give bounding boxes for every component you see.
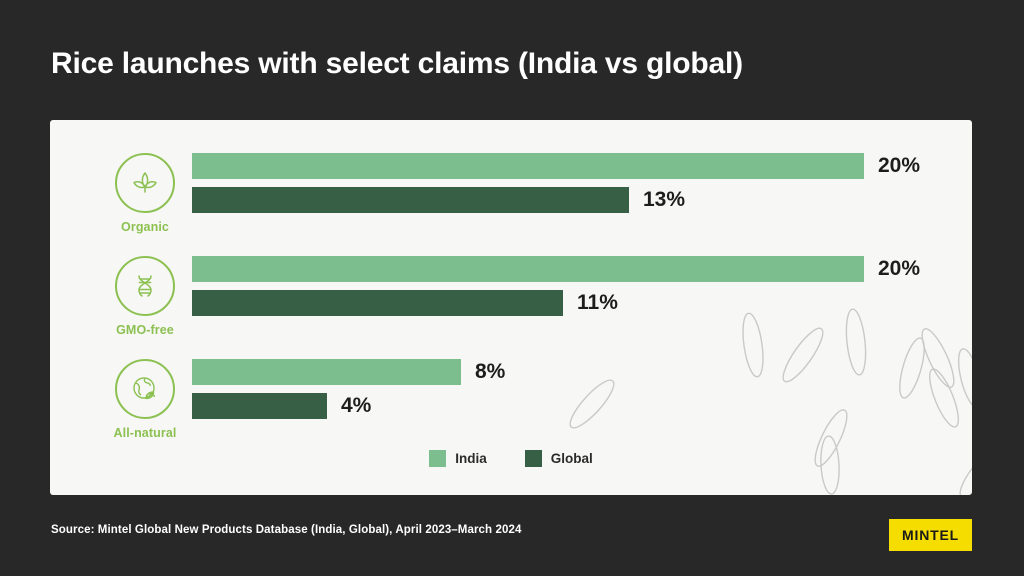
bar-india-gmo-free bbox=[192, 256, 864, 282]
slide-canvas: Rice launches with select claims (India … bbox=[0, 0, 1024, 576]
legend-item-india[interactable]: India bbox=[429, 450, 487, 467]
legend-label-global: Global bbox=[551, 451, 593, 466]
bar-value-global-all-natural: 4% bbox=[341, 393, 371, 419]
bar-value-global-gmo-free: 11% bbox=[577, 290, 618, 316]
mintel-logo-text: MINTEL bbox=[902, 527, 959, 543]
bar-row-global: 4% bbox=[192, 393, 972, 419]
bar-row-india: 20% bbox=[192, 256, 972, 282]
bar-global-all-natural bbox=[192, 393, 327, 419]
chart-card: Organic 20% 13% bbox=[50, 120, 972, 495]
page-title: Rice launches with select claims (India … bbox=[51, 47, 743, 81]
category-gmo-free: GMO-free bbox=[102, 256, 188, 337]
bar-group-all-natural: 8% 4% bbox=[192, 359, 972, 419]
leaf-icon bbox=[115, 153, 175, 213]
bar-value-india-gmo-free: 20% bbox=[878, 256, 920, 282]
source-note: Source: Mintel Global New Products Datab… bbox=[51, 524, 521, 536]
bar-row-india: 8% bbox=[192, 359, 972, 385]
bar-group-organic: 20% 13% bbox=[192, 153, 972, 213]
bar-global-organic bbox=[192, 187, 629, 213]
legend-swatch-global bbox=[525, 450, 542, 467]
category-organic: Organic bbox=[102, 153, 188, 234]
bar-value-global-organic: 13% bbox=[643, 187, 685, 213]
bar-row-global: 11% bbox=[192, 290, 972, 316]
mintel-logo: MINTEL bbox=[889, 519, 972, 551]
chart-legend: India Global bbox=[50, 450, 972, 467]
bar-india-all-natural bbox=[192, 359, 461, 385]
bar-row-india: 20% bbox=[192, 153, 972, 179]
category-label: Organic bbox=[121, 220, 169, 234]
legend-swatch-india bbox=[429, 450, 446, 467]
category-all-natural: All-natural bbox=[102, 359, 188, 440]
bar-global-gmo-free bbox=[192, 290, 563, 316]
bar-value-india-organic: 20% bbox=[878, 153, 920, 179]
globe-leaf-icon bbox=[115, 359, 175, 419]
bar-india-organic bbox=[192, 153, 864, 179]
legend-item-global[interactable]: Global bbox=[525, 450, 593, 467]
bar-value-india-all-natural: 8% bbox=[475, 359, 505, 385]
bar-row-global: 13% bbox=[192, 187, 972, 213]
category-label: All-natural bbox=[114, 426, 177, 440]
bar-group-gmo-free: 20% 11% bbox=[192, 256, 972, 316]
legend-label-india: India bbox=[455, 451, 487, 466]
category-label: GMO-free bbox=[116, 323, 174, 337]
dna-icon bbox=[115, 256, 175, 316]
